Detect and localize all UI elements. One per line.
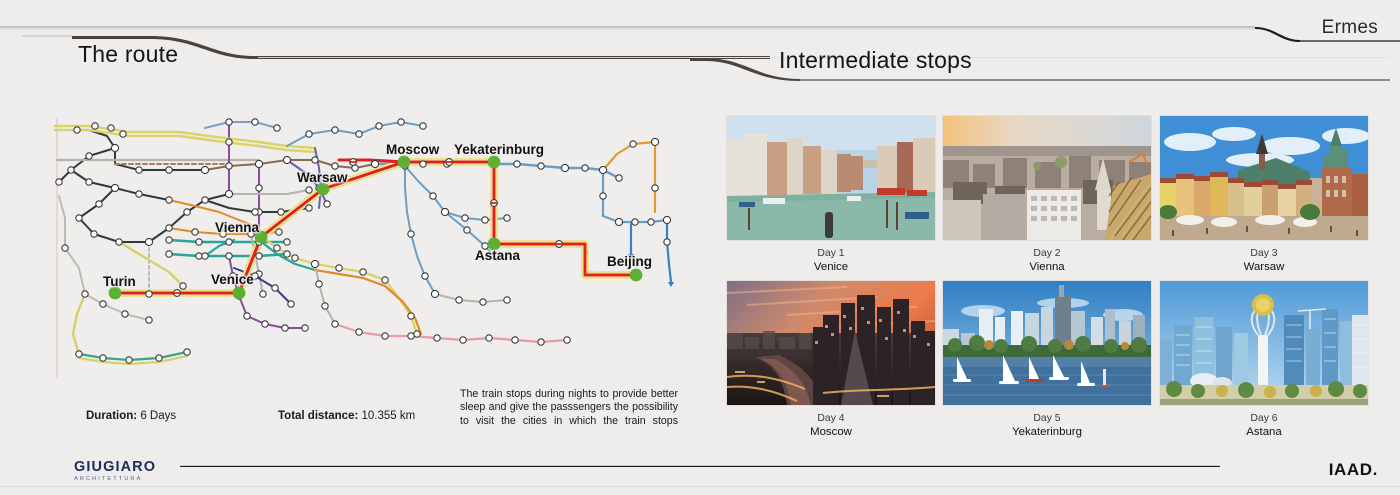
rail-network-diagram: .ln{fill:none;stroke-linecap:round;strok… [19,108,675,378]
stop-caption: Day 4 Moscow [727,412,935,439]
stop-caption: Day 2 Vienna [943,247,1151,274]
footer-divider [180,466,1220,467]
fact-duration: Duration: 6 Days [86,410,176,422]
stop-caption: Day 1 Venice [727,247,935,274]
page-title-right: Intermediate stops [779,47,972,74]
stop-day: Day 5 [943,412,1151,426]
stop-card-venice[interactable]: Day 1 Venice [727,116,935,274]
route-map[interactable]: .ln{fill:none;stroke-linecap:round;strok… [19,108,675,378]
stop-day: Day 4 [727,412,935,426]
giugiaro-logo-name: GIUGIARO [74,459,156,475]
stop-caption: Day 6 Astana [1160,412,1368,439]
astana-bayterek-tower-photo[interactable] [1160,281,1368,405]
stop-day: Day 3 [1160,247,1368,261]
stop-day: Day 1 [727,247,935,261]
venice-grand-canal-photo[interactable] [727,116,935,240]
stop-day: Day 6 [1160,412,1368,426]
fact-distance: Total distance: 10.355 km [278,410,415,422]
stop-card-moscow[interactable]: Day 4 Moscow [727,281,935,439]
stop-city: Astana [1160,426,1368,440]
route-description: The train stops during nights to provide… [460,388,678,428]
vienna-rooftops-aerial-photo[interactable] [943,116,1151,240]
stop-card-vienna[interactable]: Day 2 Vienna [943,116,1151,274]
fact-distance-label: Total distance: [278,410,358,422]
bottom-hairline [0,486,1400,487]
iaad-logo: IAAD. [1329,460,1378,480]
stop-card-yekaterinburg[interactable]: Day 5 Yekaterinburg [943,281,1151,439]
brand-name-ermes: Ermes [1322,17,1378,39]
trip-facts: Duration: 6 Days Total distance: 10.355 … [20,380,680,440]
stop-card-astana[interactable]: Day 6 Astana [1160,281,1368,439]
stop-city: Warsaw [1160,261,1368,275]
yekaterinburg-waterfront-sailboats-photo[interactable] [943,281,1151,405]
fact-distance-value: 10.355 km [362,410,416,422]
moscow-city-skyline-sunset-photo[interactable] [727,281,935,405]
giugiaro-logo: GIUGIARO ARCHITETTURA [74,459,156,482]
stop-city: Moscow [727,426,935,440]
fact-duration-label: Duration: [86,410,137,422]
giugiaro-logo-tagline: ARCHITETTURA [74,476,156,482]
header-decoration [0,0,1400,95]
warsaw-old-town-square-photo[interactable] [1160,116,1368,240]
stop-card-warsaw[interactable]: Day 3 Warsaw [1160,116,1368,274]
stop-city: Venice [727,261,935,275]
stop-day: Day 2 [943,247,1151,261]
intermediate-stops-gallery: Day 1 Venice [727,116,1375,436]
page-title-left: The route [78,41,178,68]
stop-caption: Day 3 Warsaw [1160,247,1368,274]
stop-city: Yekaterinburg [943,426,1151,440]
fact-duration-value: 6 Days [140,410,176,422]
stop-city: Vienna [943,261,1151,275]
presentation-slide: The route Intermediate stops Ermes .ln{f… [0,0,1400,495]
stop-caption: Day 5 Yekaterinburg [943,412,1151,439]
